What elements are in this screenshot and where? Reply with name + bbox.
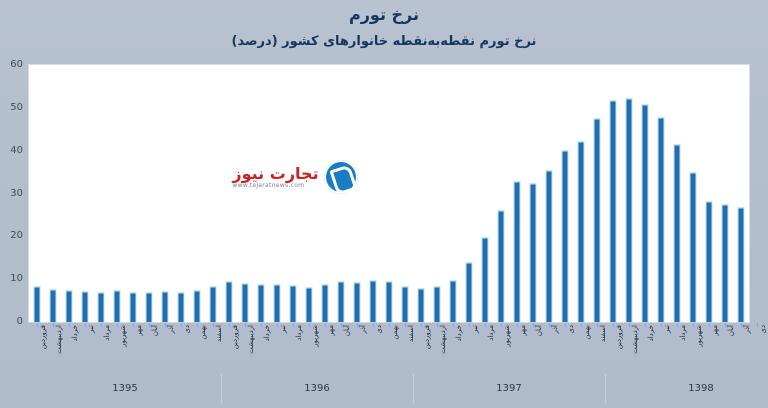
- x-axis-tick: [421, 323, 422, 327]
- x-axis-tick-label: فروردین: [616, 325, 623, 349]
- bar[interactable]: [67, 291, 72, 322]
- x-axis-tick: [709, 323, 710, 327]
- x-axis-tick: [725, 323, 726, 327]
- bar[interactable]: [467, 263, 472, 322]
- x-axis-tick: [213, 323, 214, 327]
- bar-slot: [141, 65, 157, 322]
- bar-slot: [701, 65, 717, 322]
- bar[interactable]: [35, 287, 40, 322]
- x-axis-tick: [517, 323, 518, 327]
- bar-slot: [509, 65, 525, 322]
- x-axis-tick-label: آبان: [344, 325, 351, 336]
- bar[interactable]: [643, 105, 648, 322]
- x-axis-tick-label: آبان: [536, 325, 543, 336]
- x-axis-tick: [549, 323, 550, 327]
- bar[interactable]: [131, 293, 136, 322]
- x-axis-tick-label: تیر: [664, 325, 671, 333]
- x-axis-tick: [405, 323, 406, 327]
- x-axis-year-label: 1396: [221, 378, 413, 400]
- bar-slot: [93, 65, 109, 322]
- bar[interactable]: [579, 142, 584, 322]
- bar[interactable]: [371, 281, 376, 322]
- bar-slot: [429, 65, 445, 322]
- x-axis-tick: [501, 323, 502, 327]
- bar[interactable]: [739, 208, 744, 322]
- bar[interactable]: [419, 289, 424, 322]
- x-axis-tick: [565, 323, 566, 327]
- bar-slot: [653, 65, 669, 322]
- bar-slot: [125, 65, 141, 322]
- bar-slot: [157, 65, 173, 322]
- x-axis-tick-label: آبان: [728, 325, 735, 336]
- x-axis-tick-label: اسفند: [408, 325, 415, 342]
- bar[interactable]: [595, 119, 600, 322]
- x-axis-tick: [469, 323, 470, 327]
- x-axis-tick: [229, 323, 230, 327]
- x-axis-tick-label: آذر: [360, 325, 367, 333]
- x-axis-tick: [261, 323, 262, 327]
- bar[interactable]: [195, 291, 200, 322]
- x-axis-tick-label: شهریور: [504, 325, 511, 347]
- x-axis-tick: [661, 323, 662, 327]
- bar[interactable]: [259, 285, 264, 322]
- bar[interactable]: [83, 292, 88, 322]
- x-axis-tick: [165, 323, 166, 327]
- bar[interactable]: [147, 293, 152, 322]
- x-axis-tick-label: مهر: [136, 325, 143, 336]
- x-axis-tick-label: مهر: [712, 325, 719, 336]
- x-axis-tick-label: شهریور: [120, 325, 127, 347]
- y-axis-tick-label: 0: [0, 317, 23, 327]
- x-axis-tick: [53, 323, 54, 327]
- x-axis-tick: [645, 323, 646, 327]
- x-axis-tick: [437, 323, 438, 327]
- bar[interactable]: [339, 282, 344, 322]
- tejaratnews-logo-icon: [324, 160, 358, 194]
- x-axis-year-label: 1397: [413, 378, 605, 400]
- x-axis-tick-label: اردیبهشت: [56, 325, 63, 354]
- bar[interactable]: [531, 184, 536, 322]
- year-separator: [221, 374, 222, 404]
- x-axis-tick: [133, 323, 134, 327]
- x-axis-tick: [533, 323, 534, 327]
- bar[interactable]: [563, 151, 568, 322]
- bar-slot: [397, 65, 413, 322]
- watermark-url: www.tejaratnews.com: [232, 182, 304, 190]
- x-axis-tick-label: آذر: [552, 325, 559, 333]
- bar-slot: [445, 65, 461, 322]
- x-axis-month-labels: فروردیناردیبهشتخردادتیرمردادشهریورمهرآبا…: [29, 325, 749, 375]
- year-separator: [605, 374, 606, 404]
- bar[interactable]: [387, 282, 392, 322]
- x-axis-tick-label: تیر: [280, 325, 287, 333]
- x-axis-tick-label: بهمن: [584, 325, 591, 340]
- bar-slot: [61, 65, 77, 322]
- x-axis-tick-label: خرداد: [648, 325, 655, 341]
- bar-slot: [45, 65, 61, 322]
- bar[interactable]: [243, 284, 248, 322]
- x-axis-tick: [341, 323, 342, 327]
- x-axis-year-label: 1398: [605, 378, 768, 400]
- bar-slot: [685, 65, 701, 322]
- x-axis-tick-label: مرداد: [680, 325, 687, 341]
- y-axis-tick-label: 10: [0, 274, 23, 284]
- bar-slot: [557, 65, 573, 322]
- x-axis-tick: [181, 323, 182, 327]
- bar[interactable]: [691, 173, 696, 322]
- x-axis-tick-label: آبان: [152, 325, 159, 336]
- bar[interactable]: [451, 281, 456, 322]
- x-axis-tick-label: مرداد: [296, 325, 303, 341]
- bar-slot: [637, 65, 653, 322]
- x-axis-tick: [677, 323, 678, 327]
- x-axis-tick: [85, 323, 86, 327]
- bar[interactable]: [307, 288, 312, 322]
- x-axis-tick-label: آذر: [168, 325, 175, 333]
- x-axis-tick: [37, 323, 38, 327]
- x-axis-tick-label: دی: [568, 325, 575, 334]
- x-axis-tick-label: فروردین: [232, 325, 239, 349]
- x-axis-tick-label: خرداد: [456, 325, 463, 341]
- bar[interactable]: [227, 282, 232, 322]
- bar-slot: [189, 65, 205, 322]
- bar[interactable]: [483, 238, 488, 322]
- y-axis-tick-label: 40: [0, 146, 23, 156]
- x-axis-tick-label: بهمن: [200, 325, 207, 340]
- y-axis-tick-label: 50: [0, 103, 23, 113]
- watermark-logo: تجارت نیوز www.tejaratnews.com: [219, 148, 371, 206]
- bar-slot: [413, 65, 429, 322]
- x-axis-tick: [197, 323, 198, 327]
- x-axis-tick-label: تیر: [472, 325, 479, 333]
- x-axis-year-label: 1395: [29, 378, 221, 400]
- bar[interactable]: [99, 293, 104, 322]
- x-axis-tick: [389, 323, 390, 327]
- y-axis-tick-label: 60: [0, 60, 23, 70]
- x-axis-tick-label: مرداد: [488, 325, 495, 341]
- x-axis-tick-label: تیر: [88, 325, 95, 333]
- x-axis-year-band: 1395139613971398: [28, 374, 750, 404]
- x-axis-tick-label: مهر: [328, 325, 335, 336]
- x-axis-tick: [117, 323, 118, 327]
- bar-slot: [109, 65, 125, 322]
- bar[interactable]: [499, 211, 504, 322]
- bar[interactable]: [115, 291, 120, 322]
- x-axis-tick: [101, 323, 102, 327]
- bar-slot: [477, 65, 493, 322]
- bar-slot: [525, 65, 541, 322]
- bar[interactable]: [675, 145, 680, 322]
- x-axis-tick-label: فروردین: [424, 325, 431, 349]
- x-axis-tick: [581, 323, 582, 327]
- x-axis-tick-label: مهر: [520, 325, 527, 336]
- bar[interactable]: [179, 293, 184, 322]
- bar-slot: [621, 65, 637, 322]
- bar[interactable]: [547, 171, 552, 322]
- x-axis-tick: [629, 323, 630, 327]
- x-axis-tick-label: آذر: [744, 325, 751, 333]
- bar[interactable]: [659, 118, 664, 322]
- bar[interactable]: [323, 285, 328, 322]
- bar-slot: [29, 65, 45, 322]
- x-axis-tick: [277, 323, 278, 327]
- bar-slot: [173, 65, 189, 322]
- bar[interactable]: [275, 285, 280, 322]
- x-axis-tick: [613, 323, 614, 327]
- x-axis-tick: [245, 323, 246, 327]
- x-axis-tick: [485, 323, 486, 327]
- bar-slot: [717, 65, 733, 322]
- bar[interactable]: [163, 292, 168, 322]
- chart-subtitle: نرخ تورم نقطه‌به‌نقطه خانوارهای کشور (در…: [0, 34, 768, 49]
- bar-slot: [461, 65, 477, 322]
- bar[interactable]: [611, 101, 616, 322]
- x-axis-tick: [741, 323, 742, 327]
- bar-slot: [589, 65, 605, 322]
- x-axis-tick: [357, 323, 358, 327]
- x-axis-tick-label: اسفند: [216, 325, 223, 342]
- bar-slot: [669, 65, 685, 322]
- bar[interactable]: [211, 287, 216, 322]
- x-axis-tick: [293, 323, 294, 327]
- x-axis-tick-label: خرداد: [264, 325, 271, 341]
- x-axis-tick-label: فروردین: [40, 325, 47, 349]
- x-axis-tick-label: شهریور: [312, 325, 319, 347]
- x-axis-tick: [693, 323, 694, 327]
- bar-slot: [493, 65, 509, 322]
- watermark-name: تجارت نیوز: [232, 165, 318, 182]
- bar-slot: [573, 65, 589, 322]
- x-axis-tick: [373, 323, 374, 327]
- bar[interactable]: [355, 283, 360, 322]
- x-axis-tick: [757, 323, 758, 327]
- bar[interactable]: [403, 287, 408, 322]
- bar[interactable]: [707, 202, 712, 323]
- bar-slot: [605, 65, 621, 322]
- x-axis-tick-label: خرداد: [72, 325, 79, 341]
- x-axis-tick-label: دی: [376, 325, 383, 334]
- x-axis-tick: [309, 323, 310, 327]
- x-axis-tick: [325, 323, 326, 327]
- bar[interactable]: [627, 99, 632, 322]
- chart-root: نرخ تورم نرخ تورم نقطه‌به‌نقطه خانوارهای…: [0, 0, 768, 408]
- x-axis-tick-label: بهمن: [392, 325, 399, 340]
- x-axis-tick-label: اردیبهشت: [632, 325, 639, 354]
- x-axis-tick-label: دی: [760, 325, 767, 334]
- bar[interactable]: [51, 290, 56, 322]
- y-axis-tick-label: 30: [0, 189, 23, 199]
- bar[interactable]: [723, 205, 728, 322]
- bar[interactable]: [515, 182, 520, 322]
- y-axis-tick-label: 20: [0, 231, 23, 241]
- x-axis-tick-label: اسفند: [600, 325, 607, 342]
- bar[interactable]: [435, 287, 440, 322]
- x-axis-tick: [453, 323, 454, 327]
- x-axis-tick-label: شهریور: [696, 325, 703, 347]
- x-axis-tick: [149, 323, 150, 327]
- x-axis-tick: [597, 323, 598, 327]
- x-axis-tick-label: اردیبهشت: [248, 325, 255, 354]
- x-axis-tick-label: اردیبهشت: [440, 325, 447, 354]
- bar-series: [29, 65, 749, 322]
- bar-slot: [733, 65, 749, 322]
- bar-slot: [381, 65, 397, 322]
- x-axis-tick: [69, 323, 70, 327]
- year-separator: [413, 374, 414, 404]
- x-axis-tick-label: مرداد: [104, 325, 111, 341]
- bar-slot: [541, 65, 557, 322]
- bar-slot: [77, 65, 93, 322]
- x-axis-tick-label: دی: [184, 325, 191, 334]
- chart-title: نرخ تورم: [0, 5, 768, 24]
- bar[interactable]: [291, 286, 296, 322]
